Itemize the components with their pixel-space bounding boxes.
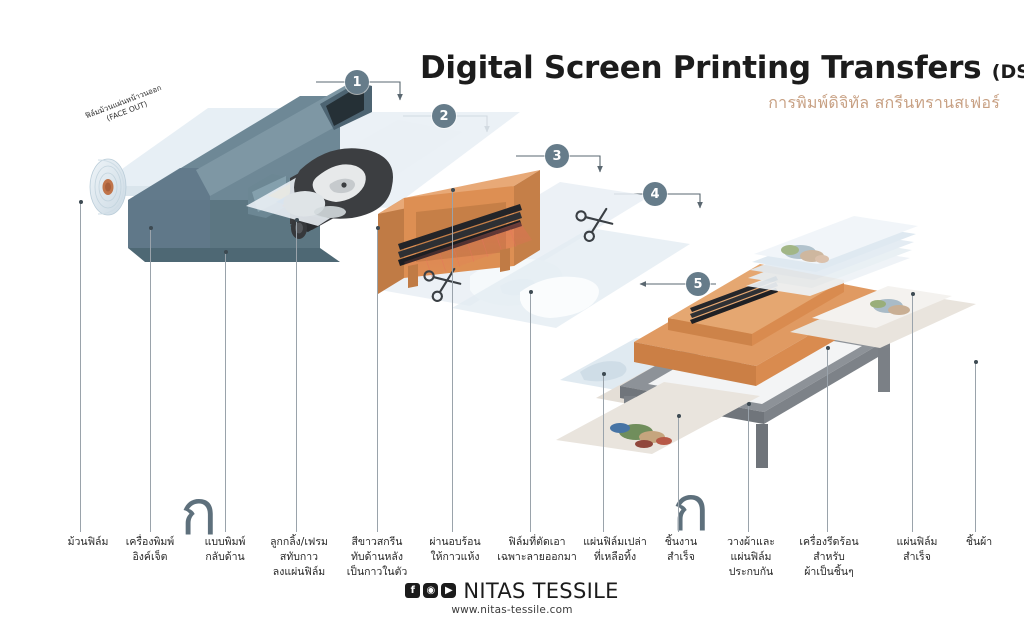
- process-caption: เครื่องรีดร้อน สำหรับ ผ้าเป็นชิ้นๆ: [785, 535, 873, 581]
- leader-line: [80, 202, 81, 532]
- title-subtitle-thai: การพิมพ์ดิจิทัล สกรีนทรานสเฟอร์: [420, 91, 1000, 116]
- process-caption: สีขาวสกรีน ทับด้านหลัง เป็นกาวในตัว: [337, 535, 417, 581]
- leader-dot: [602, 372, 606, 376]
- leader-dot: [451, 188, 455, 192]
- brand-website-url[interactable]: www.nitas-tessile.com: [0, 604, 1024, 616]
- step-badge-1[interactable]: 1: [345, 70, 369, 94]
- process-caption: ชิ้นผ้า: [950, 535, 1008, 550]
- infographic-canvas: ฟิล์มม้วนแผ่นหน้าวนออก (FACE OUT) 12345 …: [0, 0, 1024, 640]
- title-main-text: Digital Screen Printing Transfers: [420, 50, 981, 86]
- process-caption: ลูกกลิ้ง/เฟรม สทับกาว ลงแผ่นฟิล์ม: [256, 535, 342, 581]
- step-badge-4[interactable]: 4: [643, 182, 667, 206]
- leader-line: [827, 348, 828, 532]
- process-caption: ชิ้นงาน สำเร็จ: [651, 535, 711, 565]
- leader-line: [377, 228, 378, 532]
- leader-dot: [826, 346, 830, 350]
- process-caption: แบบพิมพ์ กลับด้าน: [190, 535, 260, 565]
- leader-dot: [747, 402, 751, 406]
- leader-dot: [149, 226, 153, 230]
- leader-line: [975, 362, 976, 532]
- brand-name: NITAS TESSILE: [463, 579, 618, 603]
- step-badge-5[interactable]: 5: [686, 272, 710, 296]
- footer-social-row: f ◉ ▶ NITAS TESSILE: [405, 579, 618, 603]
- leader-dot: [677, 414, 681, 418]
- title-abbreviation: (DST): [992, 61, 1024, 83]
- leader-line: [603, 374, 604, 532]
- leader-dot: [295, 218, 299, 222]
- title-main-line: Digital Screen Printing Transfers (DST): [420, 52, 1000, 85]
- step-badge-3[interactable]: 3: [545, 144, 569, 168]
- leader-line: [225, 252, 226, 532]
- leader-line: [452, 190, 453, 532]
- leader-dot: [974, 360, 978, 364]
- facebook-icon[interactable]: f: [405, 583, 420, 598]
- process-caption: ม้วนฟิล์ม: [55, 535, 121, 550]
- finished-film-stack: [746, 216, 918, 296]
- process-caption: วางผ้าและ แผ่นฟิล์ม ประกบกัน: [715, 535, 787, 581]
- leader-line: [678, 416, 679, 532]
- instagram-icon[interactable]: ◉: [423, 583, 438, 598]
- process-caption: แผ่นฟิล์ม สำเร็จ: [884, 535, 950, 565]
- youtube-icon[interactable]: ▶: [441, 583, 456, 598]
- leader-dot: [79, 200, 83, 204]
- leader-line: [748, 404, 749, 532]
- leader-line: [296, 220, 297, 532]
- leader-line: [912, 294, 913, 532]
- process-caption: แผ่นฟิล์มเปล่า ที่เหลือทิ้ง: [569, 535, 661, 565]
- leader-dot: [376, 226, 380, 230]
- leader-dot: [529, 290, 533, 294]
- footer-brand: f ◉ ▶ NITAS TESSILE www.nitas-tessile.co…: [0, 578, 1024, 616]
- process-caption: ผ่านอบร้อน ให้กาวแห้ง: [417, 535, 493, 565]
- finished-product-piece: [556, 382, 760, 454]
- leader-line: [150, 228, 151, 532]
- leader-line: [530, 292, 531, 532]
- leader-dot: [911, 292, 915, 296]
- page-title: Digital Screen Printing Transfers (DST) …: [420, 52, 1000, 116]
- leader-dot: [224, 250, 228, 254]
- process-caption: เครื่องพิมพ์ อิงค์เจ็ต: [113, 535, 187, 565]
